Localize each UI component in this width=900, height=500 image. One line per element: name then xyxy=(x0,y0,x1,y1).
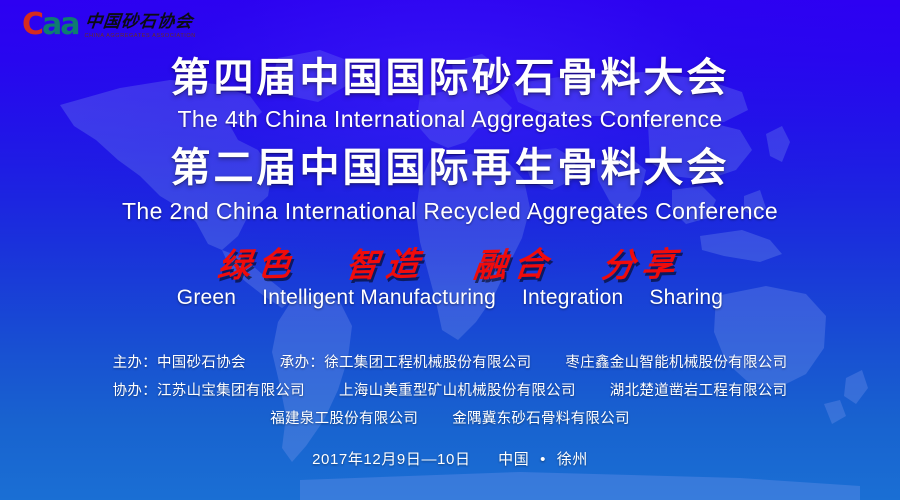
host-name: 中国砂石协会 xyxy=(157,356,246,371)
coorganizer-name-5: 金隅冀东砂石骨料有限公司 xyxy=(452,412,630,427)
organizer-name-1: 徐工集团工程机械股份有限公司 xyxy=(324,356,531,371)
slogan-word-intelligent-cn: 智造 xyxy=(344,247,428,282)
bullet-separator-icon: • xyxy=(534,451,552,468)
conference-1-title-cn: 第四届中国国际砂石骨料大会 xyxy=(0,58,900,98)
slogan-word-intelligent-en: Intelligent Manufacturing xyxy=(262,287,496,308)
host-label: 主办： xyxy=(113,356,157,371)
slogan-word-sharing-cn: 分享 xyxy=(600,247,684,282)
caa-logo: C a a 中国砂石协会 CHINA AGGREGATES ASSOCIATIO… xyxy=(22,10,196,40)
organizers-line-2: 协办： 江苏山宝集团有限公司 上海山美重型矿山机械股份有限公司 湖北楚道凿岩工程… xyxy=(0,384,900,399)
logo-chinese-name: 中国砂石协会 xyxy=(84,14,197,32)
organizers-line-1: 主办： 中国砂石协会 承办： 徐工集团工程机械股份有限公司 枣庄鑫金山智能机械股… xyxy=(0,356,900,371)
conference-banner: C a a 中国砂石协会 CHINA AGGREGATES ASSOCIATIO… xyxy=(0,0,900,500)
logo-wordmark: C a a xyxy=(22,10,79,40)
conference-2-title-cn: 第二届中国国际再生骨料大会 xyxy=(0,148,900,188)
coorganizer-name-1: 江苏山宝集团有限公司 xyxy=(157,384,305,399)
slogan-cn-row: 绿色 智造 融合 分享 xyxy=(0,248,900,281)
event-date: 2017年12月9日—10日 xyxy=(312,451,470,468)
logo-letter-c: C xyxy=(22,10,42,40)
slogan-en-row: Green Intelligent Manufacturing Integrat… xyxy=(0,287,900,308)
coorganizer-name-2: 上海山美重型矿山机械股份有限公司 xyxy=(339,384,576,399)
slogan-word-integration-en: Integration xyxy=(522,287,623,308)
event-date-venue: 2017年12月9日—10日 中国 • 徐州 xyxy=(0,452,900,467)
logo-text-block: 中国砂石协会 CHINA AGGREGATES ASSOCIATION xyxy=(85,14,196,40)
coorganizer-label: 协办： xyxy=(113,384,157,399)
logo-letter-a1: a xyxy=(42,10,60,40)
event-country: 中国 xyxy=(498,451,529,468)
slogan-word-green-en: Green xyxy=(177,287,236,308)
coorganizer-name-4: 福建泉工股份有限公司 xyxy=(270,412,418,427)
organizer-label: 承办： xyxy=(280,356,324,371)
slogan-word-green-cn: 绿色 xyxy=(216,247,300,282)
slogan-word-integration-cn: 融合 xyxy=(472,247,556,282)
conference-1-title-en: The 4th China International Aggregates C… xyxy=(0,108,900,131)
coorganizer-name-3: 湖北楚道凿岩工程有限公司 xyxy=(610,384,788,399)
event-city: 徐州 xyxy=(557,451,588,468)
organizers-line-3: 福建泉工股份有限公司 金隅冀东砂石骨料有限公司 xyxy=(0,412,900,427)
conference-2-title-en: The 2nd China International Recycled Agg… xyxy=(0,200,900,223)
logo-letter-a2: a xyxy=(60,10,78,40)
organizer-name-2: 枣庄鑫金山智能机械股份有限公司 xyxy=(565,356,787,371)
logo-english-name: CHINA AGGREGATES ASSOCIATION xyxy=(85,33,196,39)
slogan-word-sharing-en: Sharing xyxy=(649,287,723,308)
